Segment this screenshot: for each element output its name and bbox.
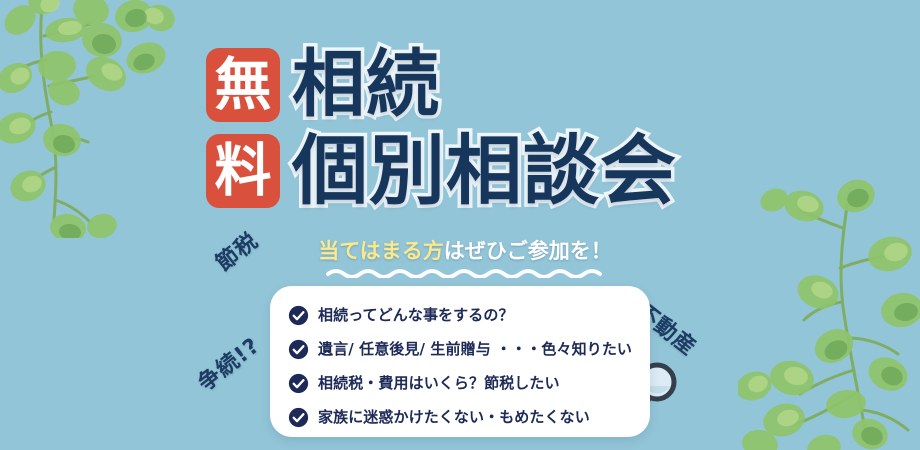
- keyword-setsuzei: 節税: [208, 224, 264, 278]
- list-item: 家族に迷惑かけたくない・もめたくない: [288, 402, 650, 433]
- headline-text-kobetsu-soudankai: 個別相談会: [292, 131, 677, 211]
- headline-text-souzoku: 相続: [292, 45, 440, 125]
- checklist-item-label: 相続税・費用はいくら？節税したい: [318, 373, 560, 394]
- list-item: 相続税・費用はいくら？節税したい: [288, 368, 650, 399]
- check-circle-icon: [288, 373, 309, 394]
- headline-row-1: 無 相続: [206, 44, 726, 126]
- badge-muryou-mu: 無: [206, 48, 280, 122]
- headline-row-2: 料 個別相談会: [206, 130, 726, 212]
- promo-banner: 無 相続 料 個別相談会 当てはまる方はぜひご参加を！ 節税 争続!? 不動産: [0, 0, 920, 450]
- checklist-item-label: 家族に迷惑かけたくない・もめたくない: [318, 407, 590, 428]
- checklist-item-label: 相続ってどんな事をするの？: [318, 305, 514, 326]
- subtitle-text: 当てはまる方はぜひご参加を！: [300, 237, 630, 265]
- check-circle-icon: [288, 305, 309, 326]
- check-circle-icon: [288, 407, 309, 428]
- list-item: 相続ってどんな事をするの？: [288, 300, 650, 331]
- list-item: 遺言/ 任意後見/ 生前贈与 ・・・色々知りたい: [288, 334, 650, 365]
- check-circle-icon: [288, 339, 309, 360]
- checklist-item-label: 遺言/ 任意後見/ 生前贈与 ・・・色々知りたい: [318, 339, 632, 360]
- subtitle-block: 当てはまる方はぜひご参加を！: [300, 237, 630, 278]
- badge-muryou-ryou: 料: [206, 134, 280, 208]
- wavy-underline: [326, 268, 604, 278]
- keyword-souzoku-dispute: 争続!?: [190, 328, 265, 397]
- headline-block: 無 相続 料 個別相談会: [206, 44, 726, 212]
- subtitle-highlight: 当てはまる方: [318, 239, 444, 263]
- subtitle-plain: はぜひご参加を！: [444, 239, 612, 263]
- vine-decoration-top-left: [0, 0, 194, 238]
- vine-decoration-right: [738, 172, 920, 450]
- checklist-card: 相続ってどんな事をするの？ 遺言/ 任意後見/ 生前贈与 ・・・色々知りたい 相…: [270, 286, 650, 437]
